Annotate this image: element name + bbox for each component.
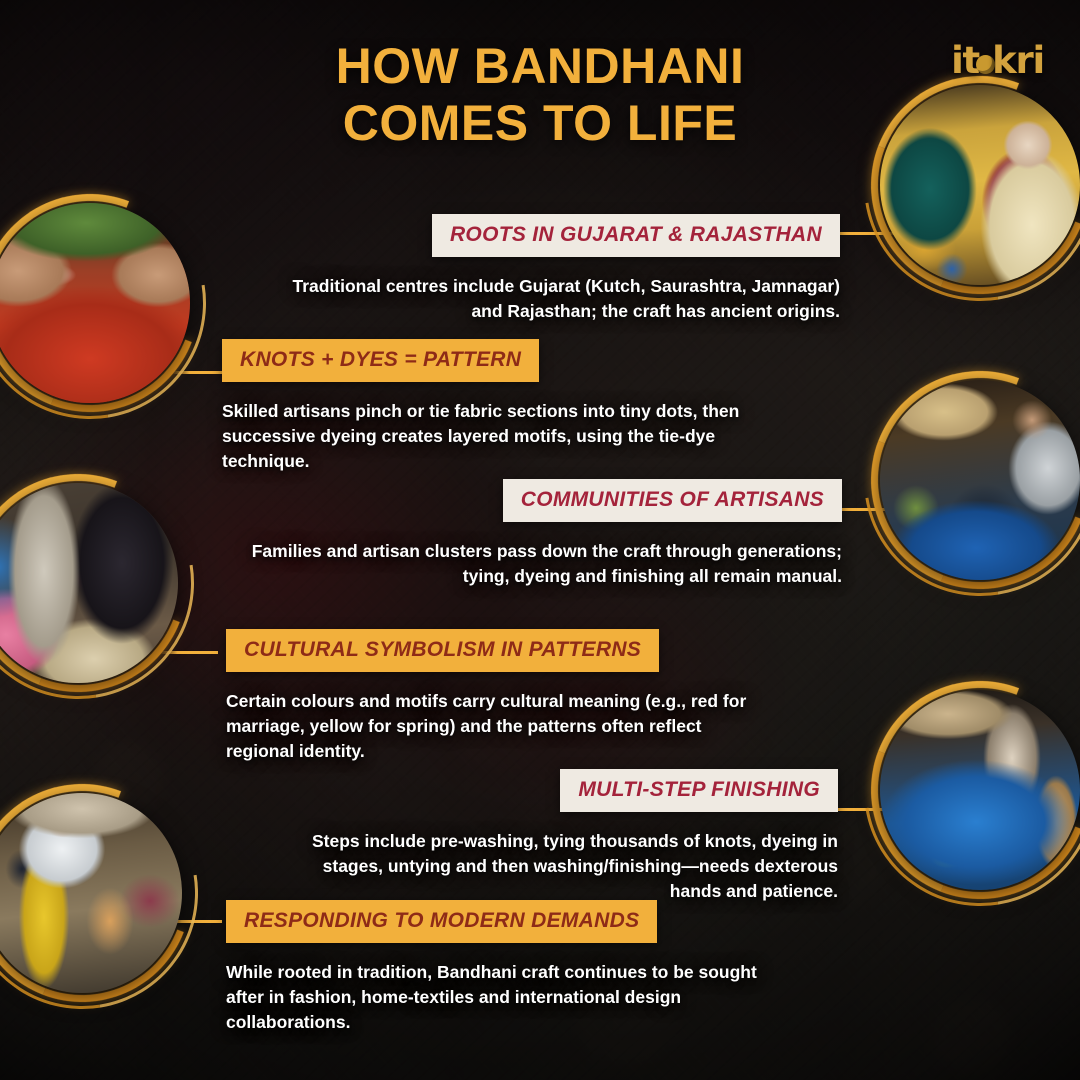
section-modern: RESPONDING TO MODERN DEMANDS While roote… xyxy=(226,900,778,1035)
photo-disc xyxy=(0,483,178,683)
photo-women-knotting xyxy=(0,483,178,683)
photo-indigo-vat xyxy=(880,690,1080,890)
infographic-poster: HOW BANDHANI COMES TO LIFE itkri xyxy=(0,0,1080,1080)
section-symbolism: CULTURAL SYMBOLISM IN PATTERNS Certain c… xyxy=(226,629,771,764)
section-symbolism-label[interactable]: CULTURAL SYMBOLISM IN PATTERNS xyxy=(226,629,659,672)
brand-logo-itokri[interactable]: itkri xyxy=(951,42,1044,79)
section-communities: COMMUNITIES OF ARTISANS Families and art… xyxy=(250,479,842,589)
section-symbolism-body: Certain colours and motifs carry cultura… xyxy=(226,689,771,764)
section-communities-body: Families and artisan clusters pass down … xyxy=(250,539,842,589)
photo-hands-red-fabric xyxy=(0,203,190,403)
brand-logo-text-2: kri xyxy=(992,39,1044,82)
photo-dyer-blue-vat xyxy=(880,380,1080,580)
section-knots: KNOTS + DYES = PATTERN Skilled artisans … xyxy=(222,339,752,474)
page-title-line-2: COMES TO LIFE xyxy=(180,95,900,152)
section-knots-label[interactable]: KNOTS + DYES = PATTERN xyxy=(222,339,539,382)
section-roots-label[interactable]: ROOTS IN GUJARAT & RAJASTHAN xyxy=(432,214,840,257)
page-title: HOW BANDHANI COMES TO LIFE xyxy=(0,38,1080,151)
photo-artwork xyxy=(880,690,1080,890)
photo-disc xyxy=(880,380,1080,580)
photo-artwork xyxy=(880,380,1080,580)
photo-artwork xyxy=(0,203,190,403)
photo-disc xyxy=(0,203,190,403)
brand-logo-text-1: it xyxy=(951,39,979,82)
section-roots: ROOTS IN GUJARAT & RAJASTHAN Traditional… xyxy=(270,214,840,324)
section-modern-label[interactable]: RESPONDING TO MODERN DEMANDS xyxy=(226,900,657,943)
section-modern-body: While rooted in tradition, Bandhani craf… xyxy=(226,960,778,1035)
photo-lifting-yellow-cloth xyxy=(0,793,182,993)
photo-disc xyxy=(880,690,1080,890)
page-title-line-1: HOW BANDHANI xyxy=(180,38,900,95)
section-roots-body: Traditional centres include Gujarat (Kut… xyxy=(270,274,840,324)
section-communities-label[interactable]: COMMUNITIES OF ARTISANS xyxy=(503,479,842,522)
section-finishing-body: Steps include pre-washing, tying thousan… xyxy=(302,829,838,904)
photo-disc xyxy=(0,793,182,993)
section-finishing-label[interactable]: MULTI-STEP FINISHING xyxy=(560,769,838,812)
photo-artwork xyxy=(0,483,178,683)
photo-artwork xyxy=(0,793,182,993)
section-knots-body: Skilled artisans pinch or tie fabric sec… xyxy=(222,399,752,474)
section-finishing: MULTI-STEP FINISHING Steps include pre-w… xyxy=(302,769,838,904)
